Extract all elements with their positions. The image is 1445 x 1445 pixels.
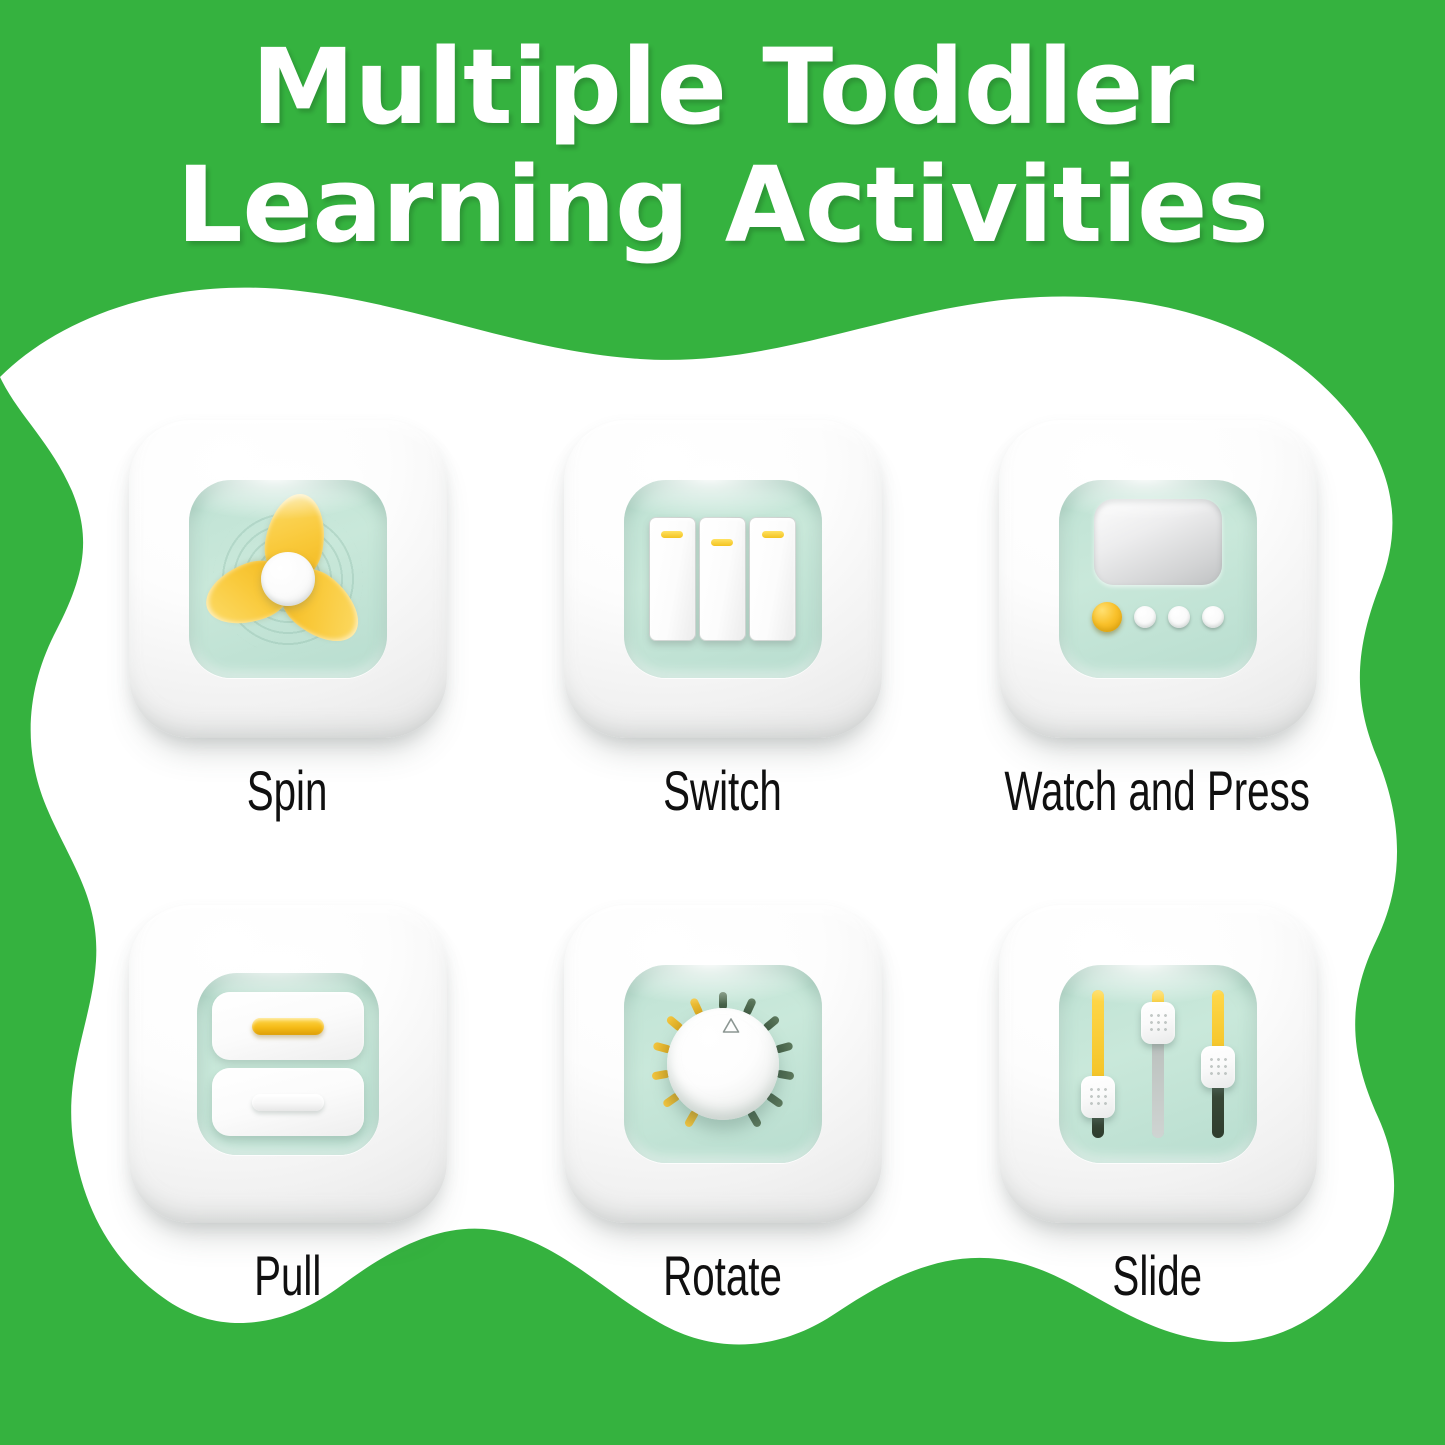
- activity-card-pull[interactable]: Pull: [70, 905, 505, 1390]
- activity-label-slide: Slide: [1113, 1245, 1203, 1307]
- page-title: Multiple Toddler Learning Activities: [0, 28, 1445, 264]
- rotate-module[interactable]: [564, 905, 882, 1223]
- activity-label-watch-and-press: Watch and Press: [1005, 760, 1311, 822]
- pull-well: [197, 973, 379, 1155]
- slider-thumb-1[interactable]: [1081, 1076, 1115, 1118]
- press-button-white-2[interactable]: [1168, 606, 1190, 628]
- press-button-white-1[interactable]: [1134, 606, 1156, 628]
- fan-hub-icon[interactable]: [261, 552, 315, 606]
- rocker-led-3: [762, 531, 784, 538]
- slider-3[interactable]: [1201, 990, 1235, 1138]
- activities-grid: Spin: [0, 420, 1445, 1390]
- pull-module[interactable]: [129, 905, 447, 1223]
- switch-well: [624, 480, 822, 678]
- press-button-yellow[interactable]: [1092, 602, 1122, 632]
- drawer-top[interactable]: [212, 992, 364, 1060]
- press-button-white-3[interactable]: [1202, 606, 1224, 628]
- activity-label-pull: Pull: [254, 1245, 321, 1307]
- drawer-bottom[interactable]: [212, 1068, 364, 1136]
- slider-thumb-3[interactable]: [1201, 1046, 1235, 1088]
- watch-and-press-well: [1059, 480, 1257, 678]
- rocker-led-1: [661, 531, 683, 538]
- switch-module[interactable]: [564, 420, 882, 738]
- poster-root: Multiple Toddler Learning Activities Spi…: [0, 0, 1445, 1445]
- rotate-well: [624, 965, 822, 1163]
- slider-1[interactable]: [1081, 990, 1115, 1138]
- spin-module[interactable]: [129, 420, 447, 738]
- slide-module[interactable]: [999, 905, 1317, 1223]
- drawer-handle-white-icon[interactable]: [252, 1094, 324, 1111]
- activity-label-spin: Spin: [247, 760, 328, 822]
- slide-well: [1059, 965, 1257, 1163]
- activity-card-slide[interactable]: Slide: [940, 905, 1375, 1390]
- activity-label-rotate: Rotate: [663, 1245, 782, 1307]
- tv-screen-icon: [1094, 499, 1222, 585]
- slider-2[interactable]: [1141, 990, 1175, 1138]
- rocker-switch-icon: [649, 517, 797, 641]
- title-line-1: Multiple Toddler: [0, 28, 1445, 146]
- drawer-handle-yellow-icon[interactable]: [252, 1018, 324, 1035]
- tv-button-row: [1092, 602, 1224, 632]
- activity-card-rotate[interactable]: Rotate: [505, 905, 940, 1390]
- title-line-2: Learning Activities: [0, 146, 1445, 264]
- rocker-switch-1[interactable]: [649, 517, 696, 641]
- spin-well: [189, 480, 387, 678]
- rocker-led-2: [711, 539, 733, 546]
- activity-card-switch[interactable]: Switch: [505, 420, 940, 905]
- activity-card-watch-and-press[interactable]: Watch and Press: [940, 420, 1375, 905]
- activity-label-switch: Switch: [663, 760, 782, 822]
- watch-and-press-module[interactable]: [999, 420, 1317, 738]
- knob-pointer-triangle-icon: [715, 1019, 731, 1032]
- rocker-switch-3[interactable]: [749, 517, 796, 641]
- rocker-switch-2[interactable]: [699, 517, 746, 641]
- activity-card-spin[interactable]: Spin: [70, 420, 505, 905]
- slider-thumb-2[interactable]: [1141, 1002, 1175, 1044]
- dial-knob-icon[interactable]: [667, 1008, 779, 1120]
